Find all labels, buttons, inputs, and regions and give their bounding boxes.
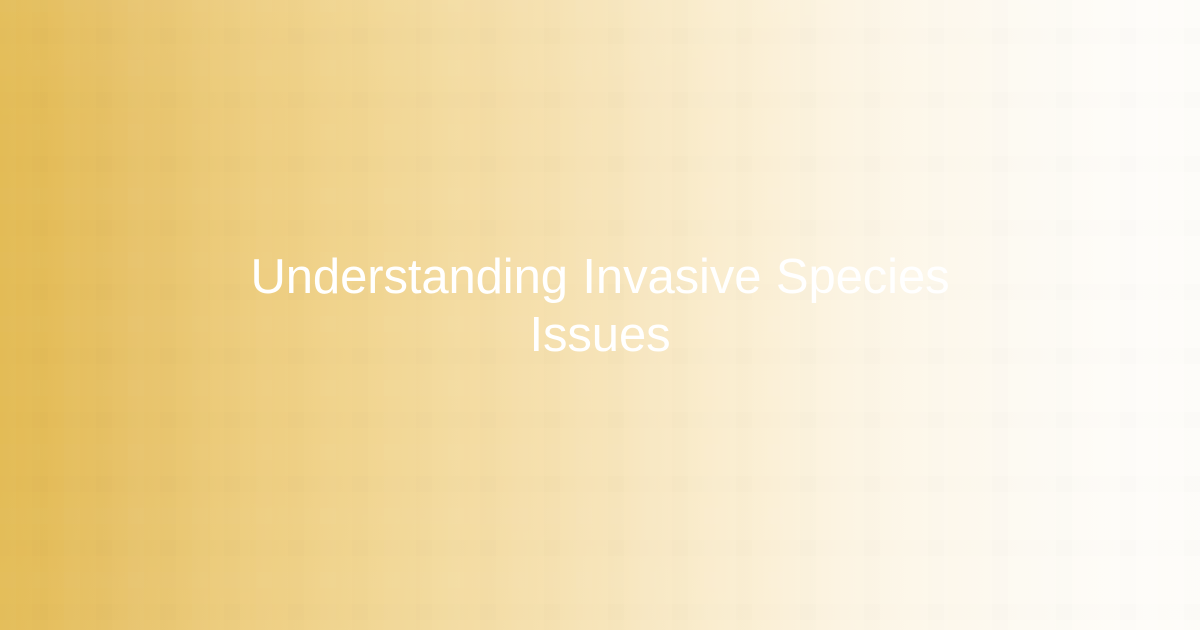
hero-banner: Understanding Invasive Species Issues	[0, 0, 1200, 630]
page-title: Understanding Invasive Species Issues	[200, 248, 1000, 364]
title-container: Understanding Invasive Species Issues	[200, 248, 1000, 364]
